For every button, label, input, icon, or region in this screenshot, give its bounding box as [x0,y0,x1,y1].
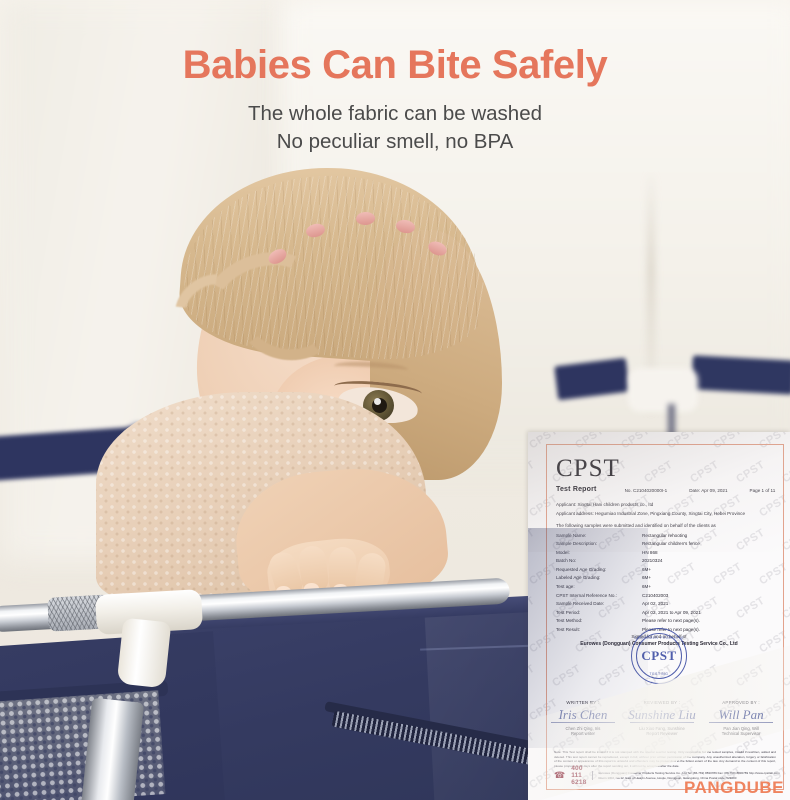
handwritten-signature: Sunshine Liu [623,708,701,721]
report-date: Date: Apr 09, 2021 [689,488,727,493]
report-meta: No. C2104020000I-1 Date: Apr 09, 2021 Pa… [625,488,776,493]
sample-detail-label: Sample Received Date: [556,601,642,606]
sample-detail-label: Test age: [556,584,642,589]
product-poster: Babies Can Bite Safely The whole fabric … [0,0,790,800]
signature-title: WRITTEN BY : [544,700,622,705]
cpst-test-report-certificate: CPSTCPSTCPSTCPSTCPSTCPSTCPSTCPSTCPSTCPST… [528,432,790,800]
applicant-block: Applicant: Xingtai Hani children product… [556,502,776,516]
sample-detail-value: 6M+ [642,584,651,589]
certificate-header-row: Test Report No. C2104020000I-1 Date: Apr… [556,486,776,493]
sample-detail-row: Test Method:Please refer to next page(s)… [556,618,776,623]
signature-title: APPROVED BY : [702,700,780,705]
stamp-ring-top-text: CONSUMER PRODUCTS [632,636,686,640]
cpst-official-stamp: CONSUMER PRODUCTS CPST TESTING [631,628,687,684]
cpst-logo: CPST [556,456,776,481]
report-type-label: Test Report [556,486,597,493]
sample-detail-value: Rectangular children's fence [642,541,700,546]
sample-detail-label: Sample Name: [556,533,642,538]
sample-detail-row: CPST Internal Reference No.:C210402003 [556,593,776,598]
sample-detail-value: Rectangular rehooting [642,533,687,538]
hotline-number: 400 111 6218 [571,765,586,786]
headline-block: Babies Can Bite Safely The whole fabric … [0,44,790,157]
applicant-name: Applicant: Xingtai Hani children product… [556,502,776,507]
sample-detail-value: 6M+ [642,567,651,572]
signature-rule [551,722,615,723]
sample-detail-label: Model: [556,550,642,555]
sample-intro-text: The following samples were submitted and… [556,523,776,528]
background-rail-right [691,355,790,394]
sample-detail-row: Model:HN 868 [556,550,776,555]
signature-title: REVIEWED BY : [623,700,701,705]
signer-role: Report Reviewer [623,731,701,736]
signature-column: WRITTEN BY :Iris ChenChen Zhi Qing, Iris… [544,700,622,736]
sample-detail-label: Labeled Age Grading: [556,575,642,580]
handwritten-signature: Will Pan [702,708,780,721]
sample-detail-row: Test age:6M+ [556,584,776,589]
baby-eye-glint [374,398,381,405]
sample-details-table: Sample Name:Rectangular rehootingSample … [556,533,776,633]
signature-column: REVIEWED BY :Sunshine LiuLiu Xiao Fang, … [623,700,701,736]
sample-detail-row: Sample Received Date:Apr 02, 2021 [556,601,776,606]
sample-detail-value: Apr 02, 2021 to Apr 09, 2021 [642,610,701,615]
sample-detail-row: Test Period:Apr 02, 2021 to Apr 09, 2021 [556,610,776,615]
sample-detail-label: Requested Age Grading: [556,567,642,572]
brand-watermark: PANGDUBE [684,778,784,798]
sample-detail-value: C210402003 [642,593,668,598]
handwritten-signature: Iris Chen [544,708,622,721]
sample-detail-row: Batch No:20210324 [556,558,776,563]
headline: Babies Can Bite Safely [0,44,790,86]
signature-columns: WRITTEN BY :Iris ChenChen Zhi Qing, Iris… [544,700,780,736]
sample-detail-value: 20210324 [642,558,662,563]
subtitle-line-1: The whole fabric can be washed [0,100,790,128]
subtitle: The whole fabric can be washed No peculi… [0,100,790,157]
report-number: No. C2104020000I-1 [625,488,668,493]
sample-detail-value: 6M+ [642,575,651,580]
applicant-address: Applicant address: Hegumiao Industrial Z… [556,511,776,516]
subtitle-line-2: No peculiar smell, no BPA [0,128,790,156]
sample-detail-label: Sample Description: [556,541,642,546]
certificate-content: CPST Test Report No. C2104020000I-1 Date… [528,432,790,800]
sample-detail-row: Sample Description:Rectangular children'… [556,541,776,546]
sample-detail-label: CPST Internal Reference No.: [556,593,642,598]
sample-detail-label: Batch No: [556,558,642,563]
sample-detail-value: Apr 02, 2021 [642,601,668,606]
sample-detail-label: Test Result: [556,627,642,632]
sample-detail-row: Labeled Age Grading:6M+ [556,575,776,580]
stamp-ring-bottom-text: TESTING [632,672,686,676]
report-page: Page 1 of 11 [750,488,776,493]
signature-column: APPROVED BY :Will PanPan Jian Qing, Will… [702,700,780,736]
sample-detail-label: Test Method: [556,618,642,623]
signer-role: Technical Supervisor [702,731,780,736]
sample-detail-label: Test Period: [556,610,642,615]
stamp-center-text: CPST [641,648,676,664]
signature-rule [709,722,773,723]
telephone-icon: ☎ [554,771,565,780]
sample-detail-row: Requested Age Grading:6M+ [556,567,776,572]
background-rail-joint [628,368,698,412]
playard-tee-connector-vertical [117,618,172,689]
sample-detail-row: Sample Name:Rectangular rehooting [556,533,776,538]
signer-role: Report writer [544,731,622,736]
signature-rule [630,722,694,723]
footer-address-line: Eurowes (Dongguan) Consumer Products Tes… [598,771,779,776]
sample-detail-value: HN 868 [642,550,658,555]
sample-detail-value: Please refer to next page(s). [642,618,700,623]
